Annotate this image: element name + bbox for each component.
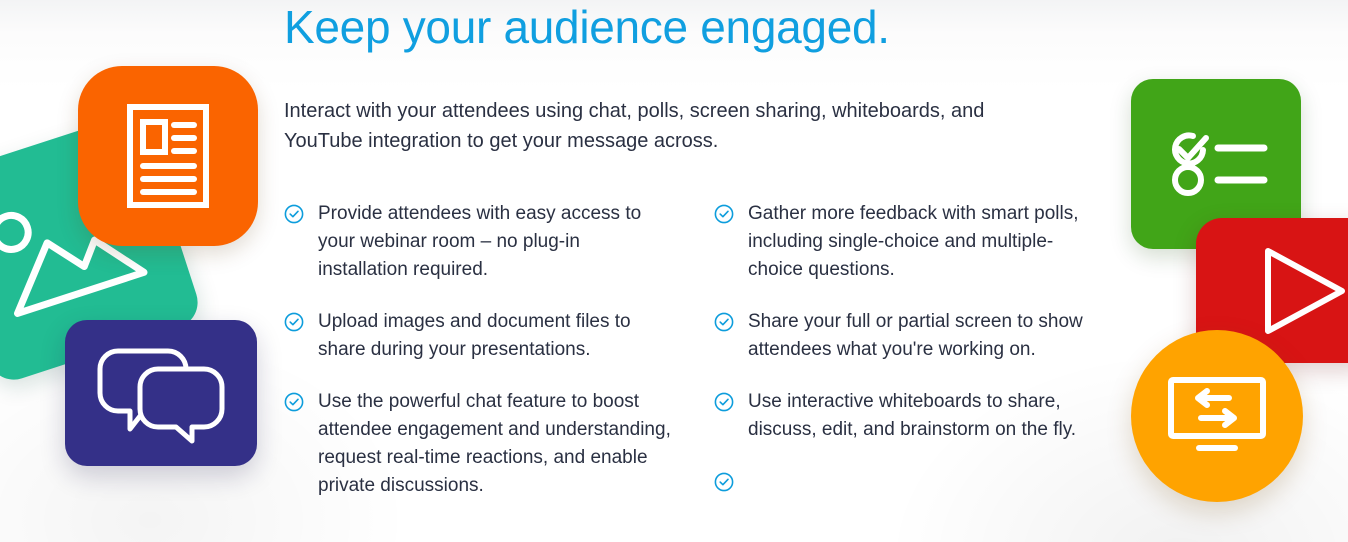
poll-checklist-icon <box>1164 133 1268 195</box>
list-item-text: Provide attendees with easy access to yo… <box>318 200 674 284</box>
chat-bubbles-icon <box>96 343 226 443</box>
list-item-text: Upload images and document files to shar… <box>318 308 674 364</box>
promo-section: Keep your audience engaged. Interact wit… <box>0 0 1348 542</box>
play-icon <box>1260 246 1348 336</box>
list-item: Share your full or partial screen to sho… <box>714 308 1104 364</box>
list-item-text: Gather more feedback with smart polls, i… <box>748 200 1104 284</box>
page-title: Keep your audience engaged. <box>284 0 1104 54</box>
screenshare-tile <box>1131 330 1303 502</box>
document-tile <box>78 66 258 246</box>
list-item: Provide attendees with easy access to yo… <box>284 200 674 284</box>
list-item: Upload images and document files to shar… <box>284 308 674 364</box>
check-circle-icon <box>284 392 304 412</box>
check-circle-icon <box>714 204 734 224</box>
benefits-columns: Provide attendees with easy access to yo… <box>284 156 1104 524</box>
document-icon <box>126 103 210 209</box>
list-item: Use interactive whiteboards to share, di… <box>714 388 1104 444</box>
content-block: Keep your audience engaged. Interact wit… <box>284 0 1104 524</box>
list-item-text: Use the powerful chat feature to boost a… <box>318 388 674 500</box>
screen-share-icon <box>1167 376 1267 456</box>
list-item: Gather more feedback with smart polls, i… <box>714 200 1104 284</box>
list-item-text: Share your full or partial screen to sho… <box>748 308 1104 364</box>
intro-paragraph: Interact with your attendees using chat,… <box>284 54 1044 156</box>
chat-tile <box>65 320 257 466</box>
list-item: Use the powerful chat feature to boost a… <box>284 388 674 500</box>
benefits-column-left: Provide attendees with easy access to yo… <box>284 200 674 524</box>
check-circle-icon <box>284 312 304 332</box>
check-circle-icon <box>714 392 734 412</box>
list-item <box>714 468 1104 492</box>
check-circle-icon <box>284 204 304 224</box>
check-circle-icon <box>714 312 734 332</box>
benefits-column-right: Gather more feedback with smart polls, i… <box>714 200 1104 524</box>
list-item-text: Use interactive whiteboards to share, di… <box>748 388 1104 444</box>
check-circle-icon <box>714 472 734 492</box>
